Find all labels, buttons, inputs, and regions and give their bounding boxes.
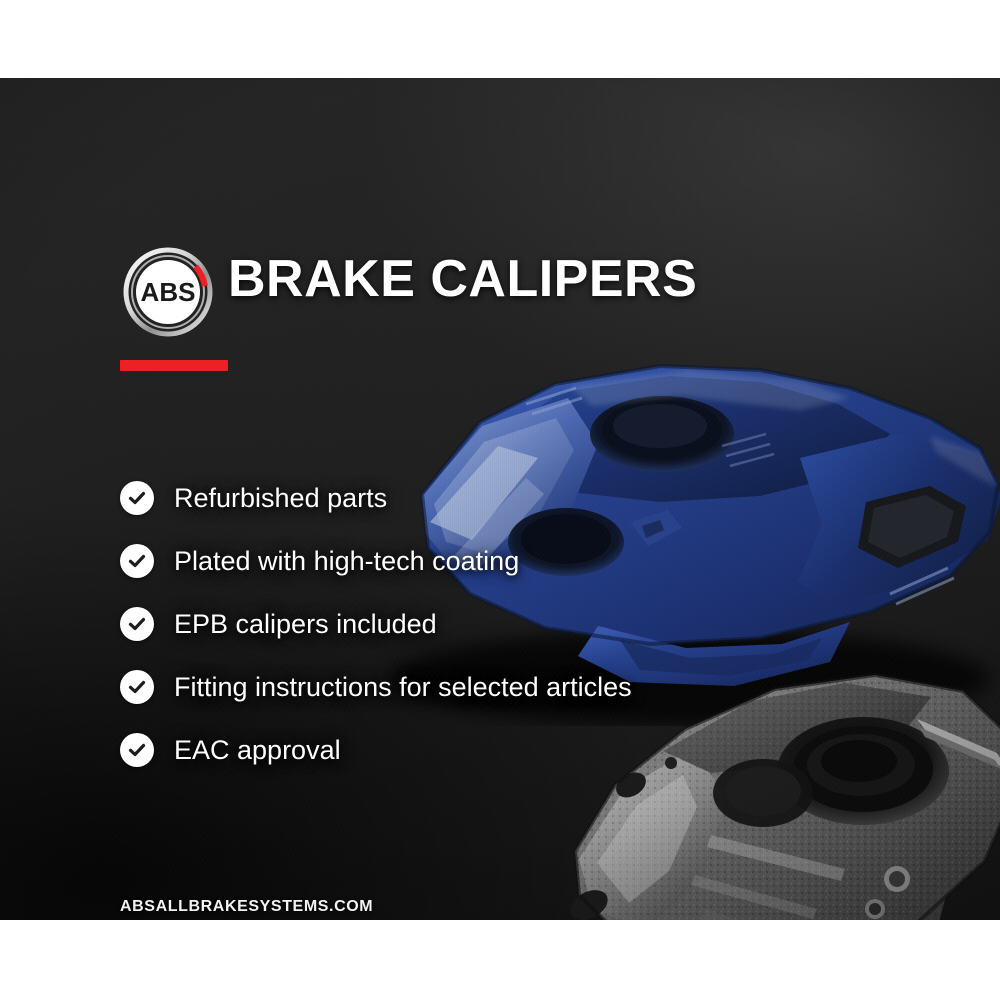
dark-background-panel: ABS BRAKE CALIPERS Refurbished parts Pla… bbox=[0, 78, 1000, 920]
svg-text:ABS: ABS bbox=[141, 277, 196, 307]
list-item: Plated with high-tech coating bbox=[120, 529, 632, 592]
feature-label: Refurbished parts bbox=[174, 483, 387, 513]
list-item: EAC approval bbox=[120, 718, 632, 781]
feature-label: EAC approval bbox=[174, 735, 341, 765]
feature-label: Fitting instructions for selected articl… bbox=[174, 672, 632, 702]
feature-label: Plated with high-tech coating bbox=[174, 546, 519, 576]
list-item: Fitting instructions for selected articl… bbox=[120, 655, 632, 718]
accent-rule bbox=[120, 360, 228, 371]
feature-list: Refurbished parts Plated with high-tech … bbox=[120, 466, 632, 781]
page-title: BRAKE CALIPERS bbox=[228, 250, 697, 308]
feature-label: EPB calipers included bbox=[174, 609, 437, 639]
check-circle-icon bbox=[120, 544, 154, 578]
product-banner: ABS BRAKE CALIPERS Refurbished parts Pla… bbox=[0, 0, 1000, 1000]
check-circle-icon bbox=[120, 607, 154, 641]
list-item: Refurbished parts bbox=[120, 466, 632, 529]
list-item: EPB calipers included bbox=[120, 592, 632, 655]
check-circle-icon bbox=[120, 733, 154, 767]
website-url: ABSALLBRAKESYSTEMS.COM bbox=[120, 898, 373, 916]
check-circle-icon bbox=[120, 481, 154, 515]
abs-logo: ABS bbox=[120, 244, 216, 340]
check-circle-icon bbox=[120, 670, 154, 704]
